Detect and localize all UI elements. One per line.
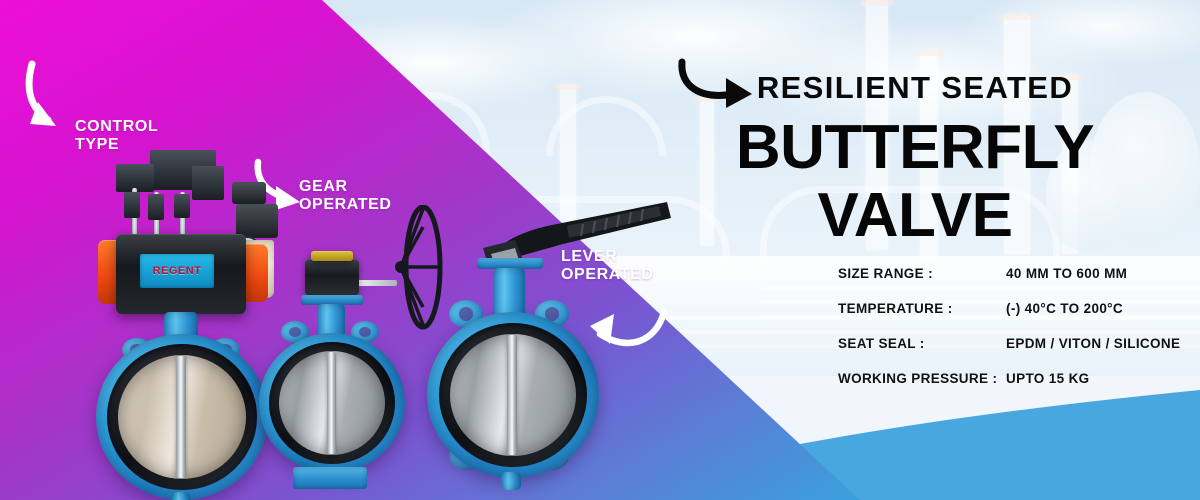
- eyebrow-heading: RESILIENT SEATED: [757, 70, 1073, 106]
- positioner-block: [192, 166, 224, 200]
- specifications-table: SIZE RANGE : 40 MM TO 600 MM TEMPERATURE…: [838, 266, 1180, 406]
- spec-value-size-range: 40 MM TO 600 MM: [1006, 266, 1127, 281]
- valve-disc-assembly: [427, 312, 599, 478]
- valve-stem: [176, 356, 186, 478]
- callout-gear-operated-line1: GEAR: [299, 178, 392, 196]
- manifold-block: [124, 192, 140, 218]
- valve-stem: [327, 352, 336, 454]
- brand-name: REGENT: [153, 265, 202, 277]
- spec-row: SIZE RANGE : 40 MM TO 600 MM: [838, 266, 1180, 281]
- lever-operated-valve: [435, 196, 675, 500]
- filter-regulator-head: [232, 182, 266, 204]
- spec-value-temperature: (-) 40°C TO 200°C: [1006, 301, 1123, 316]
- spec-label-size-range: SIZE RANGE :: [838, 266, 1006, 281]
- callout-gear-operated-line2: OPERATED: [299, 196, 392, 214]
- headline-area: RESILIENT SEATED BUTTERFLY VALVE SIZE RA…: [660, 0, 1200, 500]
- callout-control-type-line1: CONTROL: [75, 118, 158, 136]
- pneumatic-actuated-valve: REGENT: [88, 148, 288, 498]
- product-banner: CONTROL TYPE GEAR OPERATED LEVER OPERATE…: [0, 0, 1200, 500]
- spec-label-working-pressure: WORKING PRESSURE :: [838, 371, 1006, 386]
- page-title-line2: VALVE: [817, 186, 1012, 246]
- spec-label-seat-seal: SEAT SEAL :: [838, 336, 1006, 351]
- callout-gear-operated: GEAR OPERATED: [299, 178, 392, 214]
- valve-disc-assembly: [259, 333, 405, 473]
- valve-base-stand: [293, 467, 367, 489]
- products-area: CONTROL TYPE GEAR OPERATED LEVER OPERATE…: [0, 0, 720, 500]
- manifold-block: [148, 194, 164, 220]
- valve-stem: [507, 335, 517, 455]
- spec-row: SEAT SEAL : EPDM / VITON / SILICONE: [838, 336, 1180, 351]
- valve-bottom-plug: [501, 472, 521, 490]
- filter-regulator-body: [236, 204, 278, 238]
- spec-value-working-pressure: UPTO 15 KG: [1006, 371, 1090, 386]
- spec-row: WORKING PRESSURE : UPTO 15 KG: [838, 371, 1180, 386]
- spec-row: TEMPERATURE : (-) 40°C TO 200°C: [838, 301, 1180, 316]
- curved-arrow-right-icon: [676, 58, 764, 112]
- gearbox-top-cover: [311, 251, 353, 261]
- page-title-line1: BUTTERFLY: [736, 118, 1094, 178]
- spec-label-temperature: TEMPERATURE :: [838, 301, 1006, 316]
- valve-bottom-plug: [172, 492, 190, 500]
- brand-plate: REGENT: [140, 254, 214, 288]
- valve-disc-assembly: [96, 334, 268, 500]
- manifold-block: [174, 194, 190, 218]
- gearbox-housing: [305, 259, 359, 295]
- spec-value-seat-seal: EPDM / VITON / SILICONE: [1006, 336, 1180, 351]
